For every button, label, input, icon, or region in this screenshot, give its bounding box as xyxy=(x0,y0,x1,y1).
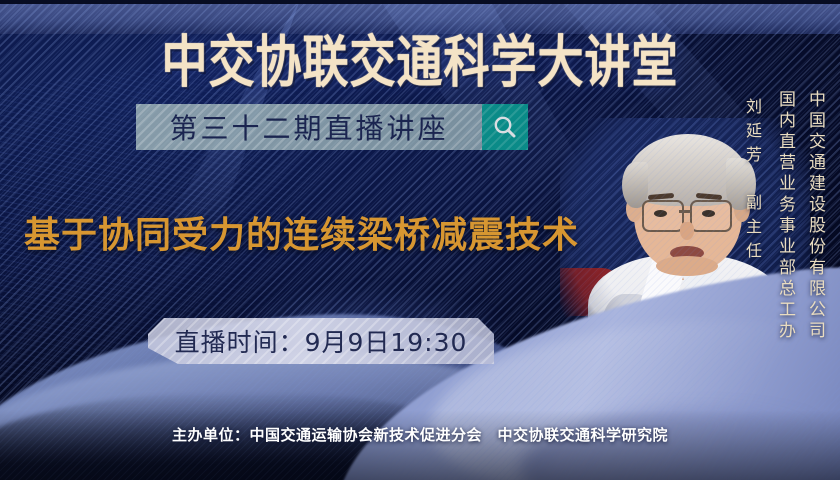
lecture-headline: 基于协同受力的连续梁桥减震技术 xyxy=(24,206,579,258)
search-icon[interactable] xyxy=(482,104,528,150)
speaker-department: 国内直营业务事业部总工办 xyxy=(773,90,798,342)
webinar-poster: 中交协联交通科学大讲堂 第三十二期直播讲座 基于协同受力的连续梁桥减震技术 直播… xyxy=(0,0,840,480)
episode-label: 第三十二期直播讲座 xyxy=(169,107,448,147)
background-bottom-vignette xyxy=(0,410,840,480)
background-top-edge xyxy=(0,0,840,4)
speaker-name-title: 刘延芳 副主任 xyxy=(740,98,764,266)
episode-banner: 第三十二期直播讲座 xyxy=(136,104,528,150)
broadcast-time-text: 直播时间：9月9日19:30 xyxy=(175,323,468,359)
page-title: 中交协联交通科学大讲堂 xyxy=(0,18,840,99)
broadcast-time-badge: 直播时间：9月9日19:30 xyxy=(148,318,494,364)
speaker-company: 中国交通建设股份有限公司 xyxy=(803,90,828,342)
organizer-footer: 主办单位：中国交通运输协会新技术促进分会 中交协联交通科学研究院 xyxy=(0,424,840,445)
episode-banner-bar: 第三十二期直播讲座 xyxy=(136,104,482,150)
